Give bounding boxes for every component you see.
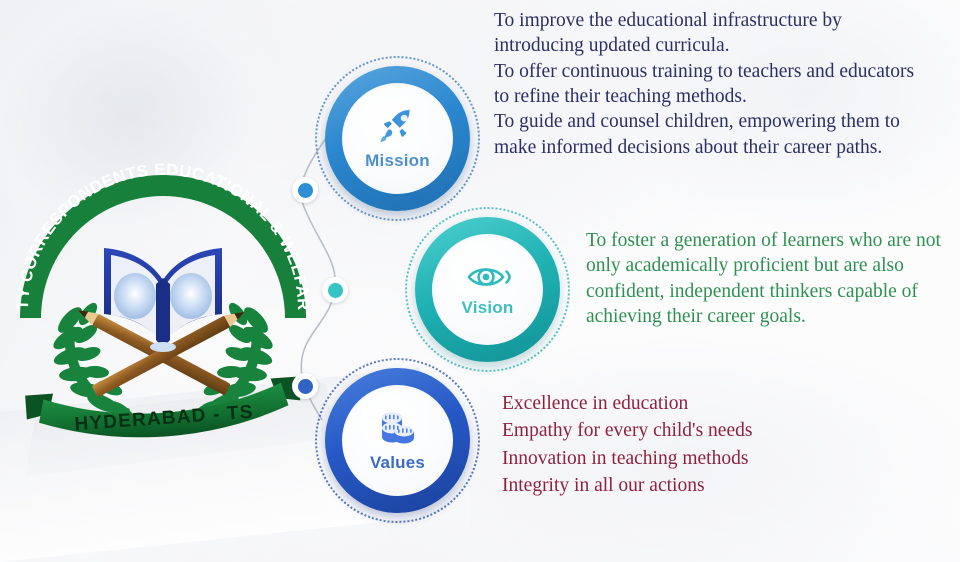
vision-line: To foster a generation of learners who a… bbox=[586, 228, 956, 329]
infographic-canvas: MUSLIM MINORITY CORRESPONDENTS EDUCATION… bbox=[0, 0, 960, 562]
connector-node-vision[interactable] bbox=[322, 277, 348, 303]
pillar-inner-values: Values bbox=[342, 385, 453, 496]
eye-icon bbox=[465, 262, 511, 292]
pillar-vision[interactable]: Vision bbox=[405, 207, 570, 372]
pillar-values[interactable]: Values bbox=[315, 358, 480, 523]
connector-node-mission[interactable] bbox=[292, 177, 318, 203]
node-dot-mission bbox=[298, 183, 313, 198]
coins-icon bbox=[376, 409, 420, 447]
mission-line: To improve the educational infrastructur… bbox=[494, 8, 934, 59]
values-line: Excellence in education bbox=[502, 390, 882, 417]
ribbon-banner: HYDERABAD - TS bbox=[25, 376, 302, 438]
vision-text-block: To foster a generation of learners who a… bbox=[586, 228, 956, 329]
values-text-block: Excellence in education Empathy for ever… bbox=[502, 390, 882, 499]
pillar-label-mission: Mission bbox=[365, 151, 430, 171]
node-dot-values bbox=[298, 379, 313, 394]
node-dot-vision bbox=[328, 283, 343, 298]
values-line: Empathy for every child's needs bbox=[502, 417, 882, 444]
mission-line: To offer continuous training to teachers… bbox=[494, 59, 934, 110]
organization-logo: MUSLIM MINORITY CORRESPONDENTS EDUCATION… bbox=[8, 148, 318, 438]
values-line: Innovation in teaching methods bbox=[502, 445, 882, 472]
mission-text-block: To improve the educational infrastructur… bbox=[494, 8, 934, 160]
pillar-label-values: Values bbox=[370, 453, 425, 473]
pillar-mission[interactable]: Mission bbox=[315, 56, 480, 221]
pillar-inner-mission: Mission bbox=[342, 83, 453, 194]
mission-line: To guide and counsel children, empowerin… bbox=[494, 109, 934, 160]
pillar-inner-vision: Vision bbox=[432, 234, 543, 345]
pillar-label-vision: Vision bbox=[462, 298, 514, 318]
rocket-icon bbox=[378, 107, 418, 145]
logo-emblem-svg: MUSLIM MINORITY CORRESPONDENTS EDUCATION… bbox=[8, 148, 318, 438]
connector-node-values[interactable] bbox=[292, 373, 318, 399]
values-line: Integrity in all our actions bbox=[502, 472, 882, 499]
